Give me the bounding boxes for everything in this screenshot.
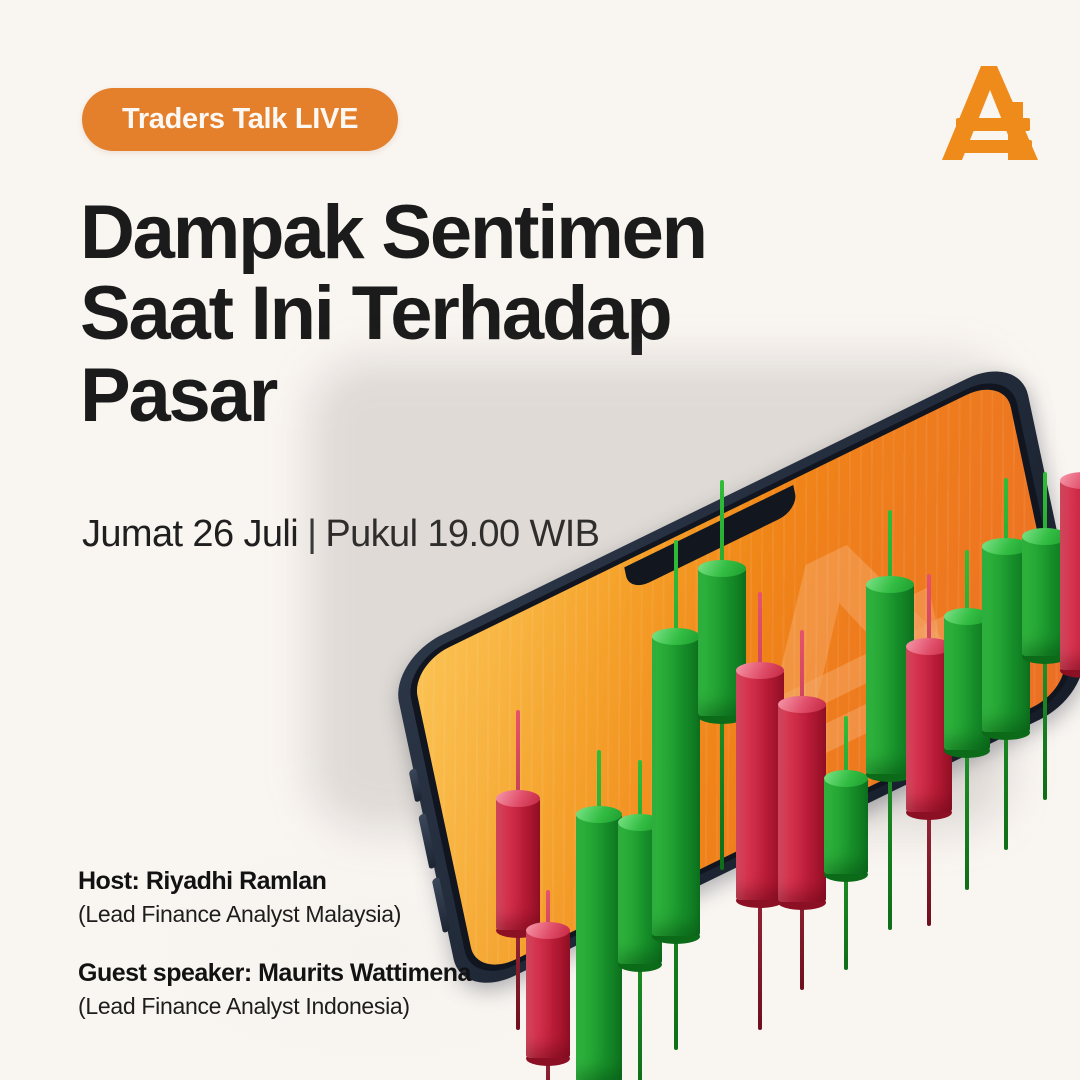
candle-body-cap (576, 806, 622, 823)
headline-line-1: Dampak Sentimen (80, 192, 840, 273)
candle-2-down (526, 330, 570, 1080)
candle-body-cap (778, 696, 826, 713)
candle-15-down (1060, 330, 1080, 1080)
brand-logo (934, 56, 1044, 168)
candle-body (778, 704, 826, 902)
candle-body-cap (526, 922, 570, 939)
candle-body-cap (652, 628, 700, 645)
candle-9-up (824, 330, 868, 1080)
candle-body (526, 930, 570, 1058)
candle-body (652, 636, 700, 936)
live-badge: Traders Talk LIVE (82, 88, 398, 151)
guest-name: Guest speaker: Maurits Wattimena (78, 958, 471, 989)
candle-body (736, 670, 784, 900)
guest-role: (Lead Finance Analyst Indonesia) (78, 992, 471, 1022)
candle-5-up (652, 330, 700, 1080)
event-date: Jumat 26 Juli (82, 513, 298, 555)
candle-body (576, 814, 622, 1080)
candle-body (824, 778, 868, 874)
candle-3-up (576, 330, 622, 1080)
speaker-credits: Host: Riyadhi Ramlan (Lead Finance Analy… (78, 866, 471, 1022)
poster-canvas: Traders Talk LIVE Dampak Sentimen Saat I… (0, 0, 1080, 1080)
credit-guest: Guest speaker: Maurits Wattimena (Lead F… (78, 958, 471, 1022)
candle-body-cap (736, 662, 784, 679)
live-badge-label: Traders Talk LIVE (122, 105, 358, 134)
candle-body (1060, 480, 1080, 670)
candle-8-down (778, 330, 826, 1080)
candle-7-down (736, 330, 784, 1080)
host-role: (Lead Finance Analyst Malaysia) (78, 900, 471, 930)
candle-body-cap (824, 770, 868, 787)
host-name: Host: Riyadhi Ramlan (78, 866, 471, 897)
credit-host: Host: Riyadhi Ramlan (Lead Finance Analy… (78, 866, 471, 930)
